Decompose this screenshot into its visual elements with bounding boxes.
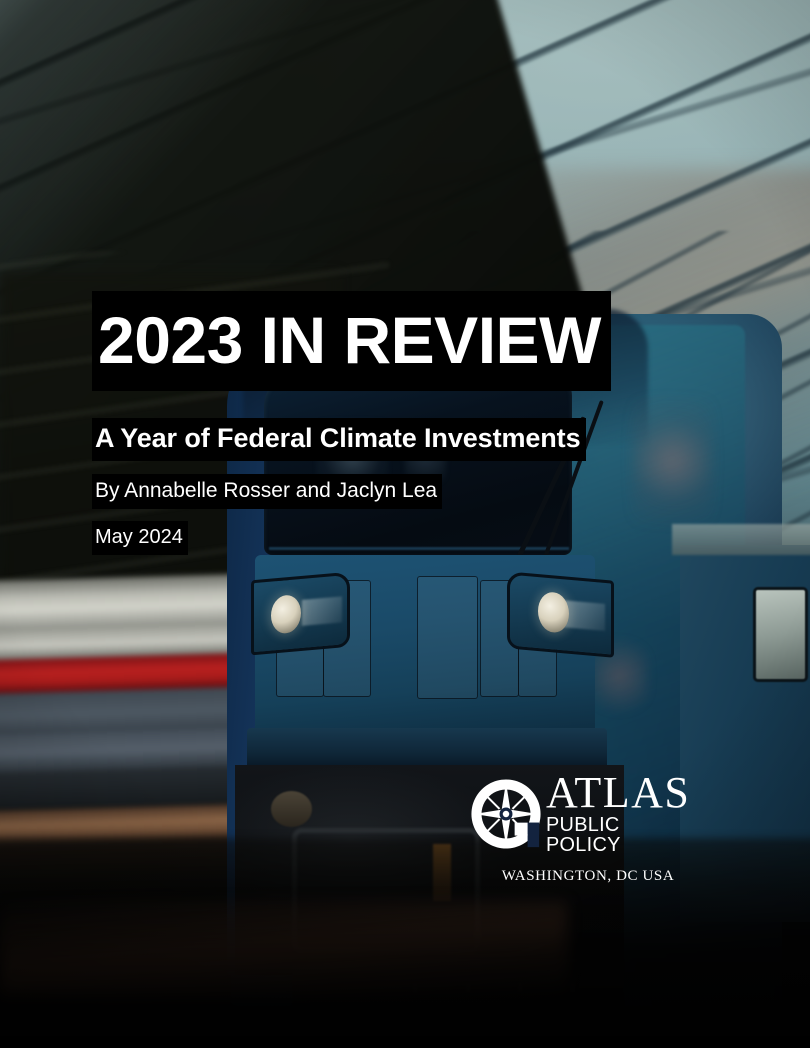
publication-date: May 2024 <box>92 521 188 555</box>
author-byline: By Annabelle Rosser and Jaclyn Lea <box>92 474 442 509</box>
logo-location: WASHINGTON, DC USA <box>476 868 700 885</box>
train-headlight-left <box>251 572 350 656</box>
report-cover-page: 2023 IN REVIEW A Year of Federal Climate… <box>0 0 810 1048</box>
train-rear-car-window <box>753 587 808 682</box>
compass-rose-icon <box>470 778 542 850</box>
page-subtitle: A Year of Federal Climate Investments <box>92 418 586 461</box>
logo-organization-name: ATLAS <box>546 772 700 814</box>
train-reflection-highlight <box>632 398 713 524</box>
cover-text-stack: 2023 IN REVIEW A Year of Federal Climate… <box>92 291 611 555</box>
headlight-lamp <box>538 592 568 635</box>
byline-line: By Annabelle Rosser and Jaclyn Lea <box>92 474 611 509</box>
undercarriage-cylinder <box>271 791 312 827</box>
page-title: 2023 IN REVIEW <box>92 291 611 391</box>
headlight-lamp <box>271 595 301 636</box>
logo-row: ATLAS PUBLIC POLICY <box>470 772 700 856</box>
subtitle-line: A Year of Federal Climate Investments <box>92 418 611 461</box>
train-rear-car-roof <box>672 524 810 555</box>
headlight-strip <box>303 597 342 627</box>
logo-tagline: PUBLIC POLICY <box>546 815 695 856</box>
train-access-panel <box>417 576 478 699</box>
bottom-warm-streak <box>0 901 567 995</box>
headlight-strip <box>563 601 606 632</box>
logo-wordmark: ATLAS PUBLIC POLICY <box>546 772 700 856</box>
organization-logo: ATLAS PUBLIC POLICY WASHINGTON, DC USA <box>470 772 700 885</box>
title-line: 2023 IN REVIEW <box>92 291 611 391</box>
date-line: May 2024 <box>92 521 611 555</box>
train-headlight-right <box>507 572 614 659</box>
